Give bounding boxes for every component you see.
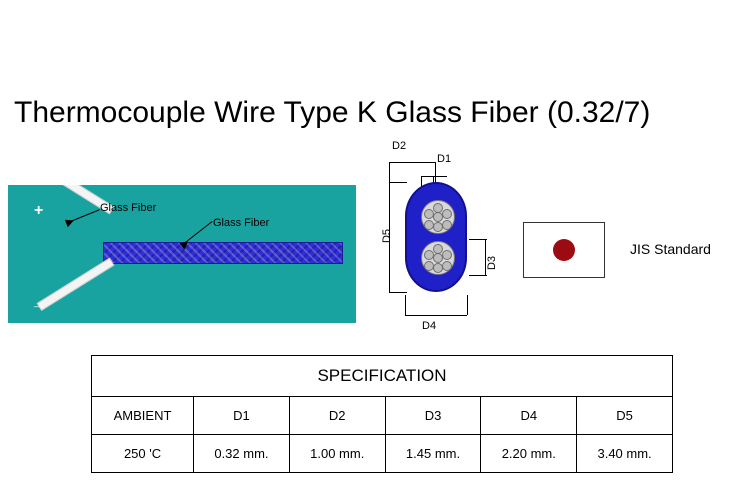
japan-flag-icon	[523, 222, 605, 278]
glass-fiber-label-1: Glass Fiber	[100, 202, 156, 214]
specification-title: SPECIFICATION	[92, 356, 673, 397]
product-photo-panel: + _ Glass Fiber Glass Fiber	[8, 185, 356, 323]
cell-d5: 3.40 mm.	[577, 435, 673, 473]
cell-d4: 2.20 mm.	[481, 435, 577, 473]
strand-icon	[442, 261, 452, 271]
dimension-ext-d4-left	[405, 295, 406, 315]
dimension-ext-d3-bottom	[469, 275, 487, 276]
strand-icon	[442, 220, 452, 230]
jacket-cross-section	[405, 182, 467, 292]
polarity-plus-label: +	[34, 203, 43, 219]
column-header-ambient: AMBIENT	[92, 397, 194, 435]
dimension-label-d4: D4	[422, 320, 436, 332]
wire-jacket	[103, 242, 343, 264]
cell-d3: 1.45 mm.	[385, 435, 481, 473]
cell-d1: 0.32 mm.	[194, 435, 290, 473]
dimension-label-d3: D3	[486, 243, 498, 283]
dimension-line-d1	[421, 176, 447, 177]
polarity-minus-label: _	[34, 293, 43, 309]
jis-standard-label: JIS Standard	[630, 241, 711, 257]
table-row: 250 'C 0.32 mm. 1.00 mm. 1.45 mm. 2.20 m…	[92, 435, 673, 473]
strand-icon	[433, 212, 443, 222]
strand-icon	[442, 250, 452, 260]
column-header-d3: D3	[385, 397, 481, 435]
cell-ambient: 250 'C	[92, 435, 194, 473]
strand-icon	[433, 253, 443, 263]
conductor-bundle-top	[421, 200, 455, 234]
table-title-row: SPECIFICATION	[92, 356, 673, 397]
dimension-ext-d5-top	[389, 182, 407, 183]
column-header-d5: D5	[577, 397, 673, 435]
cell-d2: 1.00 mm.	[289, 435, 385, 473]
column-header-d2: D2	[289, 397, 385, 435]
column-header-d1: D1	[194, 397, 290, 435]
column-header-d4: D4	[481, 397, 577, 435]
strand-icon	[433, 222, 443, 232]
page-title: Thermocouple Wire Type K Glass Fiber (0.…	[14, 96, 650, 130]
dimension-label-d2: D2	[392, 140, 406, 152]
strand-icon	[442, 209, 452, 219]
conductor-bundle-bottom	[421, 241, 455, 275]
dimension-line-d4	[405, 315, 467, 316]
dimension-ext-d5-bottom	[389, 292, 407, 293]
cross-section-drawing: D2 D1 D5 D3	[375, 140, 535, 340]
strand-icon	[433, 263, 443, 273]
dimension-ext-d4-right	[467, 295, 468, 315]
table-header-row: AMBIENT D1 D2 D3 D4 D5	[92, 397, 673, 435]
dimension-label-d5: D5	[381, 216, 393, 256]
dimension-line-d2	[389, 162, 435, 163]
dimension-label-d1: D1	[437, 153, 451, 165]
dimension-ext-d3-top	[469, 239, 487, 240]
glass-fiber-label-2: Glass Fiber	[213, 217, 269, 229]
wire-lead-negative	[37, 258, 115, 311]
flag-disc	[553, 239, 575, 261]
specification-table: SPECIFICATION AMBIENT D1 D2 D3 D4 D5 250…	[91, 355, 673, 473]
